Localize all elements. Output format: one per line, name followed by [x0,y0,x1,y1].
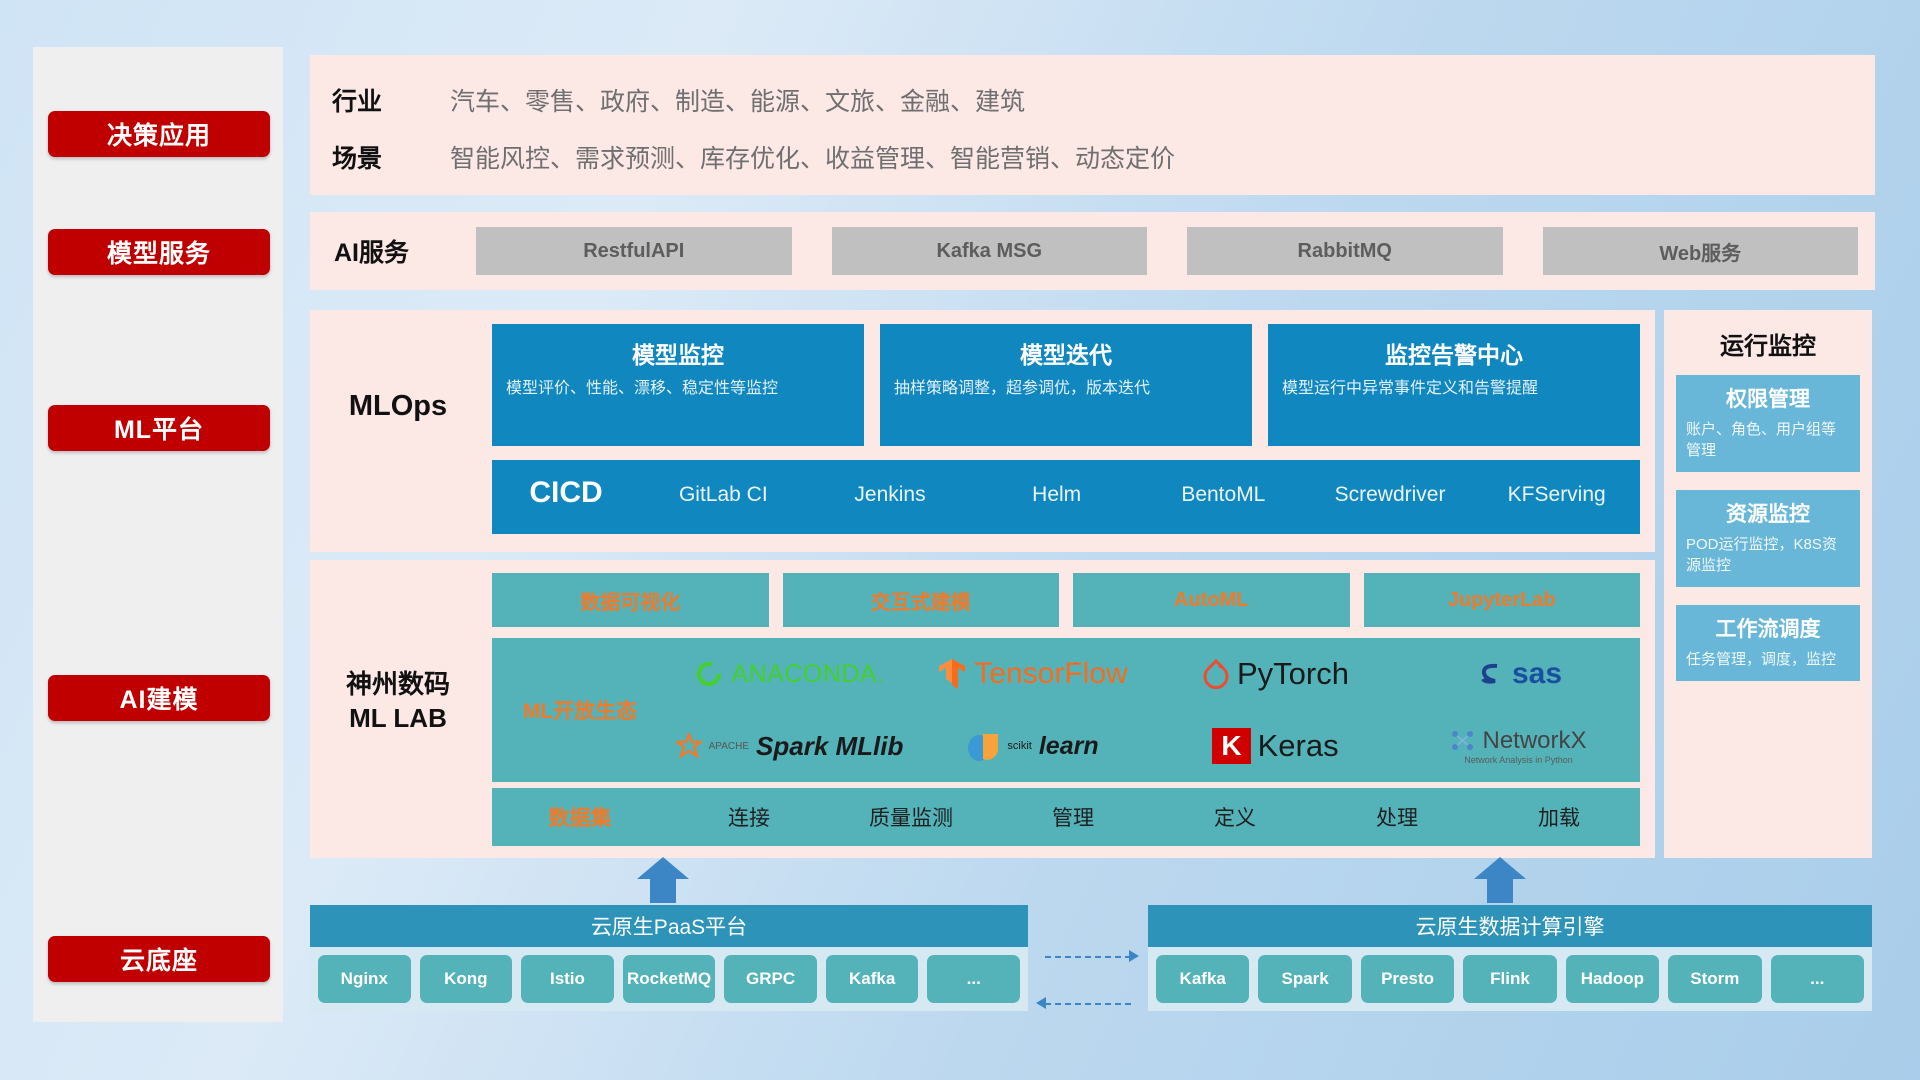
card-title: 权限管理 [1686,383,1850,413]
scikit-learn-logo: scikit learn [966,729,1098,763]
cloud-data-engine-chip-list: Kafka Spark Presto Flink Hadoop Storm ..… [1148,947,1872,1011]
anaconda-icon [694,659,724,689]
engine-chip-hadoop[interactable]: Hadoop [1566,955,1659,1003]
rail-item-cloud-base[interactable]: 云底座 [48,936,270,982]
dataset-item-process[interactable]: 处理 [1316,802,1478,832]
dataset-label: 数据集 [492,802,668,832]
tensorflow-icon [937,657,967,691]
logo-text: TensorFlow [974,657,1127,691]
rail-label: 云底座 [120,941,198,977]
logo-text: ANACONDA. [731,660,884,689]
engine-chip-kafka[interactable]: Kafka [1156,955,1249,1003]
ai-service-list: RestfulAPI Kafka MSG RabbitMQ Web服务 [476,227,1858,275]
networkx-tagline: Network Analysis in Python [1464,755,1573,765]
tool-card-interactive-modeling[interactable]: 交互式建模 [783,573,1060,627]
cicd-label: CICD [492,460,640,510]
dataset-item-manage[interactable]: 管理 [992,802,1154,832]
dataset-item-connect[interactable]: 连接 [668,802,830,832]
card-desc: 任务管理，调度，监控 [1686,649,1850,670]
card-title: 监控告警中心 [1282,336,1626,370]
cicd-tool-screwdriver[interactable]: Screwdriver [1307,460,1474,508]
arrow-up-left-stem [650,875,676,903]
cloud-chip-rocketmq[interactable]: RocketMQ [623,955,716,1003]
tensorflow-logo: TensorFlow [937,657,1127,691]
card-desc: POD运行监控，K8S资源监控 [1686,534,1850,576]
rail-item-decision-app[interactable]: 决策应用 [48,111,270,157]
arrow-up-right-head [1474,857,1526,879]
logo-text: Spark MLlib [756,731,903,762]
card-title: 工作流调度 [1686,613,1850,643]
ai-service-label: AI服务 [334,233,409,269]
pytorch-logo: PyTorch [1202,656,1349,692]
networkx-logo: NetworkX Network Analysis in Python [1450,727,1586,765]
cloud-chip-grpc[interactable]: GRPC [724,955,817,1003]
modeling-tool-list: 数据可视化 交互式建模 AutoML JupyterLab [492,573,1640,627]
engine-chip-flink[interactable]: Flink [1463,955,1556,1003]
logo-text: NetworkX [1482,727,1586,755]
anaconda-logo: ANACONDA. [694,659,884,689]
rail-label: 模型服务 [107,234,211,270]
dataset-item-define[interactable]: 定义 [1154,802,1316,832]
tool-card-jupyterlab[interactable]: JupyterLab [1364,573,1641,627]
mlops-label: MLOps [310,390,486,423]
rail-item-model-service[interactable]: 模型服务 [48,229,270,275]
rail-item-ai-modeling[interactable]: AI建模 [48,675,270,721]
rail-label: ML平台 [114,410,204,446]
scene-label: 场景 [332,139,382,175]
dataset-item-load[interactable]: 加载 [1478,802,1640,832]
service-chip-rabbitmq[interactable]: RabbitMQ [1187,227,1503,275]
mlops-card-alert-center[interactable]: 监控告警中心 模型运行中异常事件定义和告警提醒 [1268,324,1640,446]
cloud-chip-kong[interactable]: Kong [420,955,513,1003]
cloud-chip-nginx[interactable]: Nginx [318,955,411,1003]
arrow-up-right-stem [1487,875,1513,903]
keras-k-icon: K [1212,728,1250,764]
cicd-tool-helm[interactable]: Helm [973,460,1140,508]
cloud-paas-chip-list: Nginx Kong Istio RocketMQ GRPC Kafka ... [310,947,1028,1011]
card-title: 模型迭代 [894,336,1238,370]
spark-mllib-logo: APACHE Spark MLlib [676,731,904,762]
cloud-data-engine-title: 云原生数据计算引擎 [1148,905,1872,947]
ml-lab-label-line2: ML LAB [349,703,447,733]
cloud-chip-kafka[interactable]: Kafka [826,955,919,1003]
ecosystem-logo-grid: ANACONDA. TensorFlow PyTorch [668,638,1640,782]
dashed-arrow-left [1045,1003,1131,1005]
dashed-arrow-left-head [1036,997,1046,1009]
mlops-card-model-iteration[interactable]: 模型迭代 抽样策略调整，超参调优，版本迭代 [880,324,1252,446]
ml-ecosystem-panel: ML开放生态 ANACONDA. TensorFlow [492,638,1640,782]
ai-modeling-band: 神州数码 ML LAB 数据可视化 交互式建模 AutoML JupyterLa… [310,560,1655,858]
architecture-diagram: 决策应用 模型服务 ML平台 AI建模 云底座 行业 汽车、零售、政府、制造、能… [0,0,1920,1080]
runtime-monitor-title: 运行监控 [1664,326,1872,361]
runtime-monitor-panel: 运行监控 权限管理 账户、角色、用户组等管理 资源监控 POD运行监控，K8S资… [1664,310,1872,858]
cloud-data-engine: 云原生数据计算引擎 Kafka Spark Presto Flink Hadoo… [1148,905,1872,1011]
cicd-tool-gitlab-ci[interactable]: GitLab CI [640,460,807,508]
engine-chip-storm[interactable]: Storm [1668,955,1761,1003]
monitor-card-workflow[interactable]: 工作流调度 任务管理，调度，监控 [1676,605,1860,681]
logo-text: learn [1039,732,1099,761]
rail-item-ml-platform[interactable]: ML平台 [48,405,270,451]
layer-rail [33,47,283,1022]
logo-text: PyTorch [1237,656,1349,692]
rail-label: AI建模 [119,680,198,716]
sas-icon [1475,659,1505,689]
engine-chip-more[interactable]: ... [1771,955,1864,1003]
service-chip-kafka-msg[interactable]: Kafka MSG [832,227,1148,275]
cloud-chip-istio[interactable]: Istio [521,955,614,1003]
industry-value: 汽车、零售、政府、制造、能源、文旅、金融、建筑 [450,82,1025,118]
cicd-tool-bentoml[interactable]: BentoML [1140,460,1307,508]
card-title: 模型监控 [506,336,850,370]
engine-chip-spark[interactable]: Spark [1258,955,1351,1003]
card-desc: 模型评价、性能、漂移、稳定性等监控 [506,378,850,401]
dashed-arrow-right [1045,956,1131,958]
sas-logo: sas [1475,657,1562,691]
ml-lab-label-line1: 神州数码 [346,669,450,699]
cicd-row: CICD GitLab CI Jenkins Helm BentoML Scre… [492,460,1640,534]
logo-text: Keras [1258,728,1339,764]
ai-service-band: AI服务 RestfulAPI Kafka MSG RabbitMQ Web服务 [310,212,1875,290]
mlops-card-model-monitoring[interactable]: 模型监控 模型评价、性能、漂移、稳定性等监控 [492,324,864,446]
pytorch-icon [1202,658,1230,690]
cloud-chip-more[interactable]: ... [927,955,1020,1003]
arrow-up-left-head [637,857,689,879]
ml-ecosystem-label: ML开放生态 [492,695,668,725]
mlops-card-list: 模型监控 模型评价、性能、漂移、稳定性等监控 模型迭代 抽样策略调整，超参调优，… [492,324,1640,446]
card-title: 资源监控 [1686,498,1850,528]
dashed-arrow-right-head [1129,950,1139,962]
networkx-graph-icon [1450,729,1476,753]
logo-text: sas [1512,657,1562,691]
service-chip-web[interactable]: Web服务 [1543,227,1859,275]
keras-logo: K Keras [1212,728,1338,764]
scene-value: 智能风控、需求预测、库存优化、收益管理、智能营销、动态定价 [450,139,1175,175]
engine-chip-presto[interactable]: Presto [1361,955,1454,1003]
scikit-blob-icon [966,729,1000,763]
card-desc: 账户、角色、用户组等管理 [1686,419,1850,461]
spark-star-icon [676,733,702,759]
tool-card-automl[interactable]: AutoML [1073,573,1350,627]
card-desc: 模型运行中异常事件定义和告警提醒 [1282,378,1626,401]
scikit-label: scikit [1007,740,1031,752]
ml-lab-label: 神州数码 ML LAB [310,668,486,736]
card-desc: 抽样策略调整，超参调优，版本迭代 [894,378,1238,401]
monitor-card-permission[interactable]: 权限管理 账户、角色、用户组等管理 [1676,375,1860,472]
industry-label: 行业 [332,82,382,118]
mlops-band: MLOps 模型监控 模型评价、性能、漂移、稳定性等监控 模型迭代 抽样策略调整… [310,310,1655,552]
industry-scene-band: 行业 汽车、零售、政府、制造、能源、文旅、金融、建筑 场景 智能风控、需求预测、… [310,55,1875,195]
dataset-item-quality[interactable]: 质量监测 [830,802,992,832]
cicd-tool-kfserving[interactable]: KFServing [1473,460,1640,508]
tool-card-data-visualization[interactable]: 数据可视化 [492,573,769,627]
cloud-paas-title: 云原生PaaS平台 [310,905,1028,947]
spark-apache-label: APACHE [709,741,749,752]
cicd-tool-jenkins[interactable]: Jenkins [807,460,974,508]
rail-label: 决策应用 [107,116,211,152]
monitor-card-resource[interactable]: 资源监控 POD运行监控，K8S资源监控 [1676,490,1860,587]
dataset-row: 数据集 连接 质量监测 管理 定义 处理 加载 [492,788,1640,846]
service-chip-restfulapi[interactable]: RestfulAPI [476,227,792,275]
cloud-paas-platform: 云原生PaaS平台 Nginx Kong Istio RocketMQ GRPC… [310,905,1028,1011]
